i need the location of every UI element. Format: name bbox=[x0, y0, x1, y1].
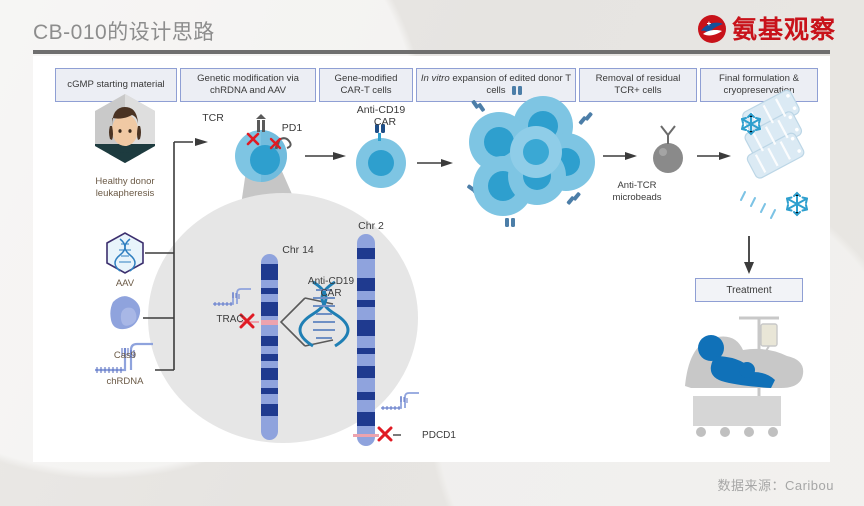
pdcd1-guide-icon bbox=[381, 393, 419, 410]
trac-guide-icon bbox=[213, 289, 251, 306]
hexagon-dna-icon bbox=[107, 233, 143, 273]
arrow-2 bbox=[305, 152, 346, 160]
protein-blob-icon bbox=[110, 296, 140, 329]
arrow-5 bbox=[697, 152, 731, 160]
cryo-drips-icon bbox=[741, 192, 775, 218]
source-note: 数据来源：Caribou bbox=[717, 475, 834, 494]
pdcd1-knockout-x-icon bbox=[379, 428, 391, 440]
chromosome-14-icon bbox=[261, 254, 278, 440]
car-t-single-cell-icon bbox=[356, 124, 406, 188]
cas9-label: Cas9 bbox=[103, 350, 147, 362]
arrow-head-1 bbox=[195, 138, 208, 146]
treatment-box: Treatment bbox=[695, 278, 803, 302]
tcr-label: TCR bbox=[196, 112, 230, 124]
trac-label: TRAC bbox=[209, 314, 251, 326]
insert-label-line2: CAR bbox=[309, 288, 353, 300]
pdcd1-label: PDCD1 bbox=[415, 430, 463, 442]
insert-label-line1: Anti-CD19 bbox=[295, 276, 367, 288]
chr14-label: Chr 14 bbox=[273, 244, 323, 256]
page-title: CB-010的设计思路 bbox=[33, 16, 215, 46]
anti-tcr-label-line2: microbeads bbox=[597, 192, 677, 204]
anti-tcr-label-line1: Anti-TCR bbox=[601, 180, 673, 192]
car-t-cell-cluster-icon bbox=[467, 86, 595, 227]
diagram-card: cGMP starting material Genetic modificat… bbox=[33, 56, 830, 462]
snowflake-icon-2 bbox=[787, 193, 807, 215]
chromosome-2-icon bbox=[353, 234, 379, 446]
title-divider bbox=[33, 50, 830, 54]
car-label-line1: Anti-CD19 bbox=[345, 104, 417, 116]
amino-swoosh-icon bbox=[697, 14, 727, 44]
slide: CB-010的设计思路 氨基观察 cGMP starting material … bbox=[0, 0, 864, 506]
car-label-line2: CAR bbox=[363, 116, 407, 128]
microbead-antibody-icon bbox=[653, 126, 683, 173]
aav-label: AAV bbox=[103, 278, 147, 290]
arrow-4 bbox=[603, 152, 637, 160]
arrow-down-treatment bbox=[744, 236, 754, 274]
chrdna-label: chRDNA bbox=[95, 376, 155, 388]
brand-name: 氨基观察 bbox=[732, 17, 836, 42]
brand-logo: 氨基观察 bbox=[697, 12, 836, 46]
chr2-label: Chr 2 bbox=[349, 220, 393, 232]
patient-infusion-chair-icon bbox=[685, 318, 803, 437]
healthy-donor-label: Healthy donor leukapheresis bbox=[73, 176, 177, 200]
pd1-label: PD1 bbox=[276, 122, 308, 134]
arrow-3 bbox=[417, 159, 453, 167]
tcr-receptor-icon bbox=[256, 114, 266, 132]
healthy-donor-icon bbox=[95, 94, 155, 166]
cryobags-icon bbox=[727, 89, 820, 180]
